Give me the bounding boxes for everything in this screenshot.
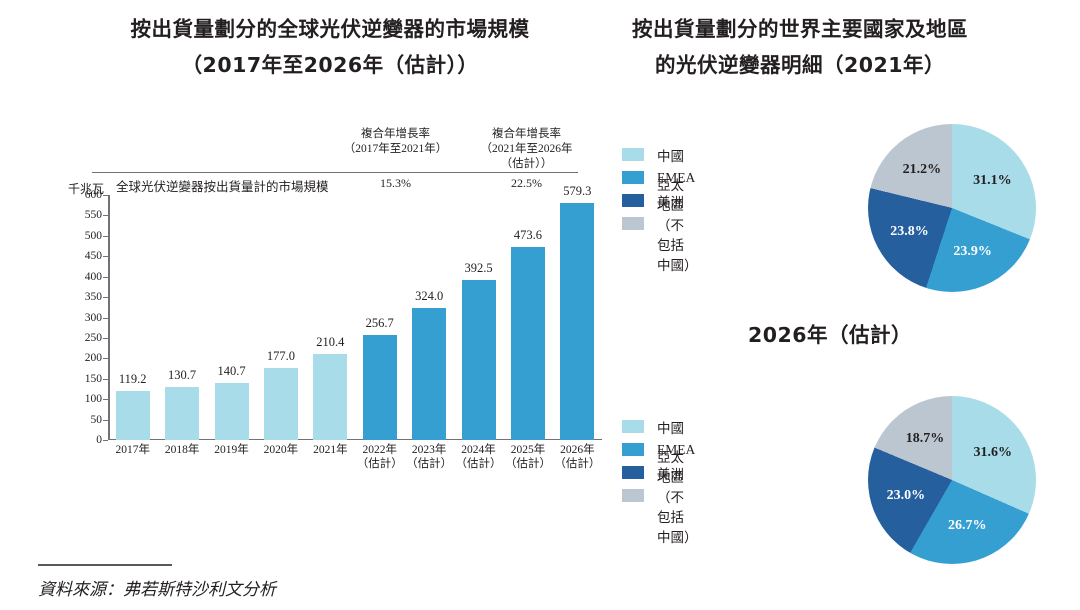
y-axis-tick-550: 550 [62,209,102,221]
bar-series-label: 全球光伏逆變器按出貨量計的市場規模 [116,176,329,195]
bar-slot[interactable]: 256.7 [355,195,404,440]
bar-value-label: 579.3 [563,184,591,199]
bar[interactable] [363,335,397,440]
bar[interactable] [215,383,249,440]
y-axis-tick-250: 250 [62,332,102,344]
pie-slice-label: 23.0% [887,488,926,504]
y-axis-tick-350: 350 [62,291,102,303]
cagr-header-row: 複合年增長率 （2017年至2021年） 複合年增長率 （2021年至2026年… [330,127,592,173]
x-axis-label-year: 2023年 [412,444,447,456]
left-chart-title: 按出貨量劃分的全球光伏逆變器的市場規模 （2017年至2026年（估計）） [60,12,600,84]
footer-divider-rule [38,564,172,566]
legend-item[interactable]: 亞太地區（不包括中國） [622,212,695,235]
x-axis-label: 2023年（估計） [404,443,453,472]
legend-swatch [622,194,644,207]
y-axis-tick-500: 500 [62,230,102,242]
bar-value-label: 119.2 [119,372,147,387]
bar-value-label: 256.7 [366,316,394,331]
bar[interactable] [412,308,446,440]
legend-label: 亞太地區（不包括中國） [657,446,695,546]
cagr-label-2017-2021: 複合年增長率 （2017年至2021年） [330,127,461,157]
pie-slice-label: 26.7% [948,518,987,534]
x-axis-label-year: 2021年 [313,444,348,456]
left-chart-title-line1: 按出貨量劃分的全球光伏逆變器的市場規模 [60,12,600,48]
legend-item[interactable]: 亞太地區（不包括中國） [622,484,695,507]
x-axis-label: 2021年 [306,443,355,472]
legend-item[interactable]: 中國 [622,415,695,438]
bar-value-label: 210.4 [316,335,344,350]
cagr-value-2017-2021: 15.3% [330,176,461,191]
legend-swatch [622,148,644,161]
x-axis-label: 2022年（估計） [355,443,404,472]
y-axis-tick-50: 50 [62,414,102,426]
bar[interactable] [165,387,199,440]
bar-value-label: 177.0 [267,349,295,364]
bar-slot[interactable]: 392.5 [454,195,503,440]
pie-graphic-2026 [868,396,1036,564]
bar-slot[interactable]: 210.4 [306,195,355,440]
x-axis-label-year: 2025年 [511,444,546,456]
x-axis-label-estimate: （估計） [355,457,404,471]
x-axis-label-year: 2026年 [560,444,595,456]
x-axis-label-year: 2017年 [115,444,150,456]
pie-slice-label: 23.9% [953,244,992,260]
x-axis-label-estimate: （估計） [454,457,503,471]
bar-value-label: 473.6 [514,228,542,243]
bar[interactable] [116,391,150,440]
y-axis-tick-600: 600 [62,189,102,201]
x-axis-labels: 2017年2018年2019年2020年2021年2022年（估計）2023年（… [108,443,602,472]
y-axis-tick-450: 450 [62,250,102,262]
x-axis-label-year: 2019年 [214,444,249,456]
legend-item[interactable]: 中國 [622,143,695,166]
pie-slice-label: 31.6% [974,445,1013,461]
legend-label: 中國 [657,145,684,165]
y-axis-tickmark-0 [103,440,108,441]
cagr-column-2017-2021: 複合年增長率 （2017年至2021年） [330,127,461,173]
right-chart-title-line2: 的光伏逆變器明細（2021年） [600,48,1000,84]
right-chart-title: 按出貨量劃分的世界主要國家及地區 的光伏逆變器明細（2021年） [600,12,1000,84]
cagr-column-2021-2026: 複合年增長率 （2021年至2026年 （估計）） [461,127,592,173]
bar-slot[interactable]: 177.0 [256,195,305,440]
legend-label: 亞太地區（不包括中國） [657,174,695,274]
right-chart-title-line1: 按出貨量劃分的世界主要國家及地區 [600,12,1000,48]
y-axis-tick-150: 150 [62,373,102,385]
x-axis-label-year: 2022年 [362,444,397,456]
pie-slice-label: 31.1% [973,173,1012,189]
y-axis-tick-0: 0 [62,434,102,446]
cagr-label-2021-2026: 複合年增長率 （2021年至2026年 （估計）） [461,127,592,173]
bar-value-label: 324.0 [415,289,443,304]
bar[interactable] [560,203,594,440]
y-axis-tick-400: 400 [62,271,102,283]
x-axis-label: 2018年 [157,443,206,472]
x-axis-label: 2026年（估計） [553,443,602,472]
y-axis-tick-200: 200 [62,352,102,364]
bar-series: 119.2130.7140.7177.0210.4256.7324.0392.5… [108,195,602,440]
bar-chart-plot-area: 119.2130.7140.7177.0210.4256.7324.0392.5… [108,195,602,440]
bar[interactable] [313,354,347,440]
pie-slice-label: 23.8% [890,224,929,240]
pie-slice-label: 21.2% [903,162,942,178]
y-axis-tick-300: 300 [62,312,102,324]
legend-swatch [622,489,644,502]
x-axis-label-estimate: （估計） [404,457,453,471]
left-chart-title-line2: （2017年至2026年（估計）） [60,48,600,84]
cagr-divider-rule [92,172,578,173]
x-axis-label: 2019年 [207,443,256,472]
x-axis-label-year: 2020年 [264,444,299,456]
x-axis-label-year: 2018年 [165,444,200,456]
bar[interactable] [511,247,545,440]
bar-slot[interactable]: 130.7 [157,195,206,440]
bar[interactable] [264,368,298,440]
cagr-value-row: 15.3% 22.5% [330,176,592,191]
y-axis-tick-labels: 050100150200250300350400450500550600 [62,195,102,440]
y-axis-tick-100: 100 [62,393,102,405]
pie-2026-heading: 2026年（估計） [700,318,960,348]
x-axis-label: 2025年（估計） [503,443,552,472]
bar-slot[interactable]: 579.3 [553,195,602,440]
pie-slice-label: 18.7% [906,431,945,447]
x-axis-label-year: 2024年 [461,444,496,456]
legend-swatch [622,466,644,479]
legend-swatch [622,171,644,184]
x-axis-label: 2017年 [108,443,157,472]
bar-slot[interactable]: 140.7 [207,195,256,440]
legend-swatch [622,443,644,456]
bar-slot[interactable]: 119.2 [108,195,157,440]
bar[interactable] [462,280,496,440]
source-note: 資料來源：弗若斯特沙利文分析 [38,575,276,600]
legend-swatch [622,217,644,230]
legend-label: 中國 [657,417,684,437]
x-axis-label-estimate: （估計） [553,457,602,471]
bar-slot[interactable]: 473.6 [503,195,552,440]
legend-swatch [622,420,644,433]
x-axis-label: 2024年（估計） [454,443,503,472]
bar-value-label: 392.5 [464,261,492,276]
bar-value-label: 140.7 [217,364,245,379]
bar-chart: 050100150200250300350400450500550600 119… [62,195,602,440]
pie-legend-2021: 中國EMEA美洲亞太地區（不包括中國） [622,143,695,235]
x-axis-label: 2020年 [256,443,305,472]
pie-graphic-2021 [868,124,1036,292]
bar-slot[interactable]: 324.0 [404,195,453,440]
x-axis-label-estimate: （估計） [503,457,552,471]
pie-legend-2026: 中國EMEA美洲亞太地區（不包括中國） [622,415,695,507]
bar-value-label: 130.7 [168,368,196,383]
